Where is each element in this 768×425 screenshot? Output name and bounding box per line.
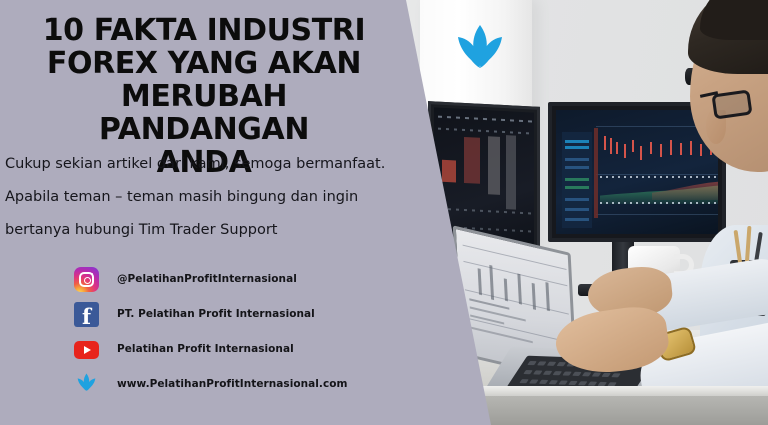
headline-line-1: 10 FAKTA INDUSTRI bbox=[18, 14, 390, 47]
eyeglasses-icon bbox=[711, 89, 752, 119]
body-text: Cukup sekian artikel dari kami, semoga b… bbox=[5, 148, 395, 247]
headline-line-3: MERUBAH PANDANGAN bbox=[18, 80, 390, 146]
body-line-1: Cukup sekian artikel dari kami, semoga b… bbox=[5, 148, 395, 181]
body-line-2: Apabila teman – teman masih bingung dan … bbox=[5, 181, 395, 214]
social-row-website[interactable]: www.PelatihanProfitInternasional.com bbox=[74, 371, 404, 397]
chart-sidebar bbox=[562, 132, 592, 228]
lotus-icon bbox=[449, 22, 511, 80]
body-line-3: bertanya hubungi Tim Trader Support bbox=[5, 214, 395, 247]
instagram-handle: @PelatihanProfitInternasional bbox=[117, 273, 297, 285]
social-row-instagram[interactable]: @PelatihanProfitInternasional bbox=[74, 266, 404, 292]
person-hair-top bbox=[700, 0, 768, 40]
facebook-icon[interactable]: f bbox=[74, 302, 99, 327]
panel-content: 10 FAKTA INDUSTRI FOREX YANG AKAN MERUBA… bbox=[0, 0, 420, 425]
headline-line-2: FOREX YANG AKAN bbox=[18, 47, 390, 80]
instagram-icon[interactable] bbox=[74, 267, 99, 292]
youtube-icon[interactable] bbox=[74, 337, 99, 362]
website-lotus-icon[interactable] bbox=[74, 372, 99, 397]
primary-monitor-screen bbox=[556, 110, 718, 234]
poster-canvas: 10 FAKTA INDUSTRI FOREX YANG AKAN MERUBA… bbox=[0, 0, 768, 425]
social-links: @PelatihanProfitInternasional f PT. Pela… bbox=[74, 266, 404, 406]
social-row-youtube[interactable]: Pelatihan Profit Internasional bbox=[74, 336, 404, 362]
social-row-facebook[interactable]: f PT. Pelatihan Profit Internasional bbox=[74, 301, 404, 327]
youtube-handle: Pelatihan Profit Internasional bbox=[117, 343, 294, 355]
website-url: www.PelatihanProfitInternasional.com bbox=[117, 378, 348, 390]
facebook-handle: PT. Pelatihan Profit Internasional bbox=[117, 308, 315, 320]
